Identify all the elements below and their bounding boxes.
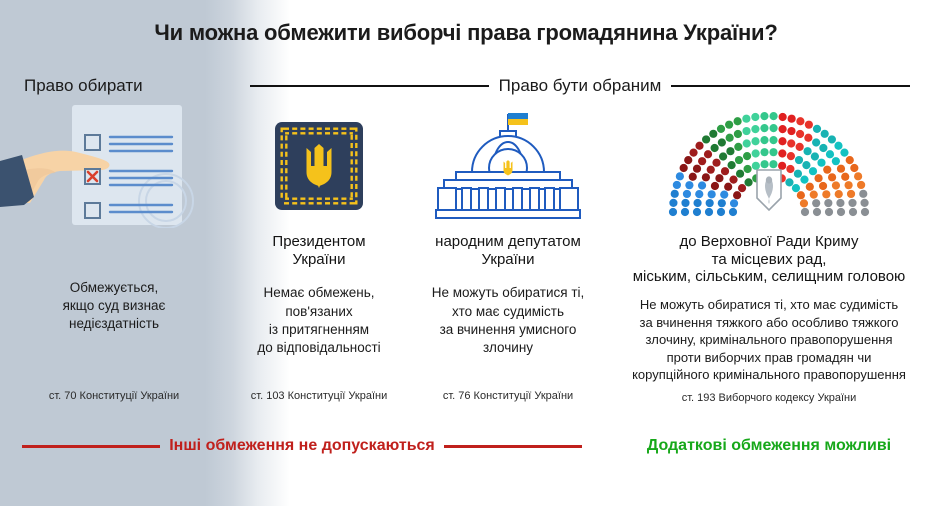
footer-additional-restrictions: Додаткові обмеження можливі [606, 437, 932, 455]
column-1-body: Обмежується, якщо суд визнає недієздатні… [0, 279, 228, 334]
column-right-to-vote: Обмежується, якщо суд визнає недієздатні… [0, 108, 228, 334]
header-rule-right [671, 85, 910, 87]
presidential-seal-icon [273, 120, 365, 212]
parliament-seating-chart-icon [649, 112, 889, 220]
column-president: Президентом України Немає обмежень, пов'… [228, 108, 410, 357]
ballot-art-wrap [0, 108, 228, 223]
column-2-body: Немає обмежень, пов'язаних із притягненн… [228, 284, 410, 357]
footer-rule-right [444, 445, 582, 448]
column-4-citation: ст. 193 Виборчого кодексу України [606, 392, 932, 404]
section-header-right-to-vote: Право обирати [24, 76, 143, 96]
section-header-right-to-be-elected: Право бути обраним [499, 76, 662, 96]
parliament-art-wrap [410, 108, 606, 223]
column-4-heading: до Верховної Ради Криму та місцевих рад,… [606, 233, 932, 286]
column-3-heading: народним депутатом України [410, 233, 606, 268]
column-4-body: Не можуть обиратися ті, хто має судиміст… [606, 296, 932, 384]
header-rule-left [250, 85, 489, 87]
ukrainian-flag-icon [508, 113, 528, 125]
column-3-body: Не можуть обиратися ті, хто має судиміст… [410, 284, 606, 357]
column-2-citation: ст. 103 Конституції України [228, 390, 410, 402]
seating-chart-art-wrap [606, 108, 932, 223]
column-1-citation: ст. 70 Конституції України [0, 390, 228, 402]
footer-rule-left [22, 445, 160, 448]
column-2-heading: Президентом України [228, 233, 410, 268]
parliament-building-icon [432, 110, 584, 222]
footer-no-other-restrictions-group: Інші обмеження не допускаються [22, 437, 582, 455]
column-3-citation: ст. 76 Конституції України [410, 390, 606, 402]
column-mp: народним депутатом України Не можуть оби… [410, 108, 606, 357]
crimea-emblem-icon [757, 170, 781, 210]
president-art-wrap [228, 108, 410, 223]
page-title: Чи можна обмежити виборчі права громадян… [0, 20, 932, 46]
section-header-right-to-be-elected-group: Право бути обраним [250, 76, 910, 96]
footer-no-other-restrictions: Інші обмеження не допускаються [169, 437, 435, 455]
ballot-paper-icon [0, 103, 228, 228]
column-local-councils: до Верховної Ради Криму та місцевих рад,… [606, 108, 932, 384]
